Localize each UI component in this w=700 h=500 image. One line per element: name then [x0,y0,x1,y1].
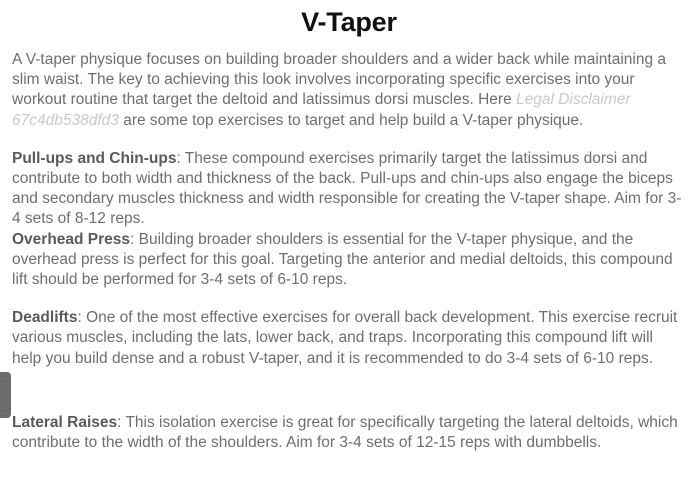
intro-paragraph: A V-taper physique focuses on building b… [12,50,686,131]
section-body: : One of the most effective exercises fo… [12,309,677,366]
legal-disclaimer-id: 67c4db538dfd3 [12,112,119,129]
content-spacer [12,369,686,413]
side-tab-handle[interactable]: … … [0,372,11,418]
section-term: Lateral Raises [12,414,117,431]
intro-text-after: are some top exercises to target and hel… [119,112,583,129]
section-pull-ups-and-chin-ups: Pull-ups and Chin-ups: These compound ex… [12,149,686,230]
page-title: V-Taper [12,0,686,38]
section-term: Overhead Press [12,231,130,248]
section-deadlifts: Deadlifts: One of the most effective exe… [12,308,686,369]
side-tab-label-bottom: … [1,410,5,415]
section-term: Deadlifts [12,309,77,326]
article-page: V-Taper A V-taper physique focuses on bu… [0,0,700,500]
side-tab-label-top: … [1,375,5,380]
section-overhead-press: Overhead Press: Building broader shoulde… [12,230,686,291]
legal-disclaimer-label: Legal Disclaimer [516,91,631,108]
section-lateral-raises: Lateral Raises: This isolation exercise … [12,413,686,453]
section-term: Pull-ups and Chin-ups [12,150,176,167]
